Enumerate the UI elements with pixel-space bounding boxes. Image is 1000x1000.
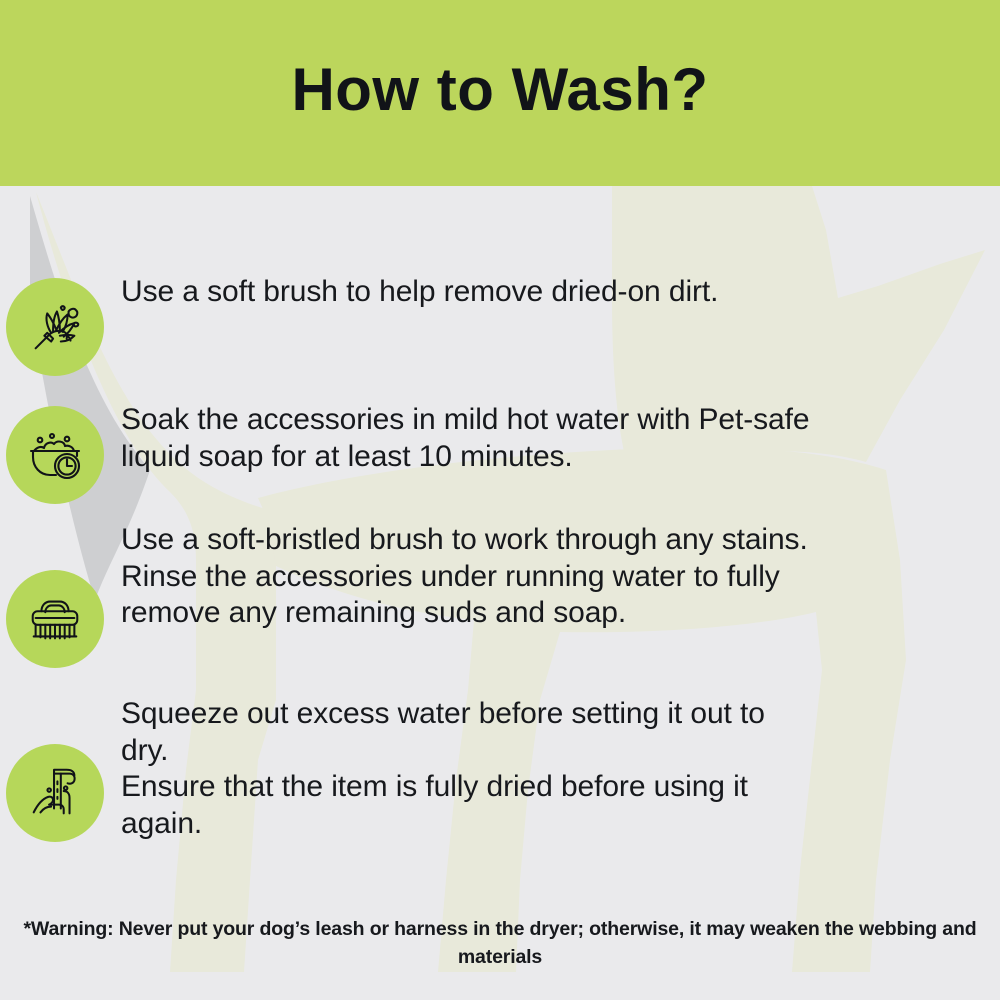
soaking-basin-timer-icon	[6, 406, 104, 504]
step-icon-container	[0, 522, 110, 668]
hand-under-faucet-icon	[6, 744, 104, 842]
step-item: Squeeze out excess water before setting …	[0, 696, 1000, 842]
page-title: How to Wash?	[291, 60, 708, 126]
step-icon-container	[0, 696, 110, 842]
step-icon-container	[0, 402, 110, 504]
step-text: Soak the accessories in mild hot water w…	[110, 402, 870, 475]
step-text: Squeeze out excess water before setting …	[110, 696, 870, 842]
warning-note: *Warning: Never put your dog’s leash or …	[0, 915, 1000, 972]
feather-duster-icon	[6, 278, 104, 376]
step-icon-container	[0, 274, 110, 376]
step-text: Use a soft brush to help remove dried-on…	[110, 274, 870, 311]
step-item: Soak the accessories in mild hot water w…	[0, 402, 1000, 504]
step-item: Use a soft-bristled brush to work throug…	[0, 522, 1000, 668]
scrub-brush-icon	[6, 570, 104, 668]
step-text: Use a soft-bristled brush to work throug…	[110, 522, 870, 632]
step-item: Use a soft brush to help remove dried-on…	[0, 274, 1000, 376]
infographic-page: How to Wash?	[0, 0, 1000, 1000]
header-band: How to Wash?	[0, 0, 1000, 186]
